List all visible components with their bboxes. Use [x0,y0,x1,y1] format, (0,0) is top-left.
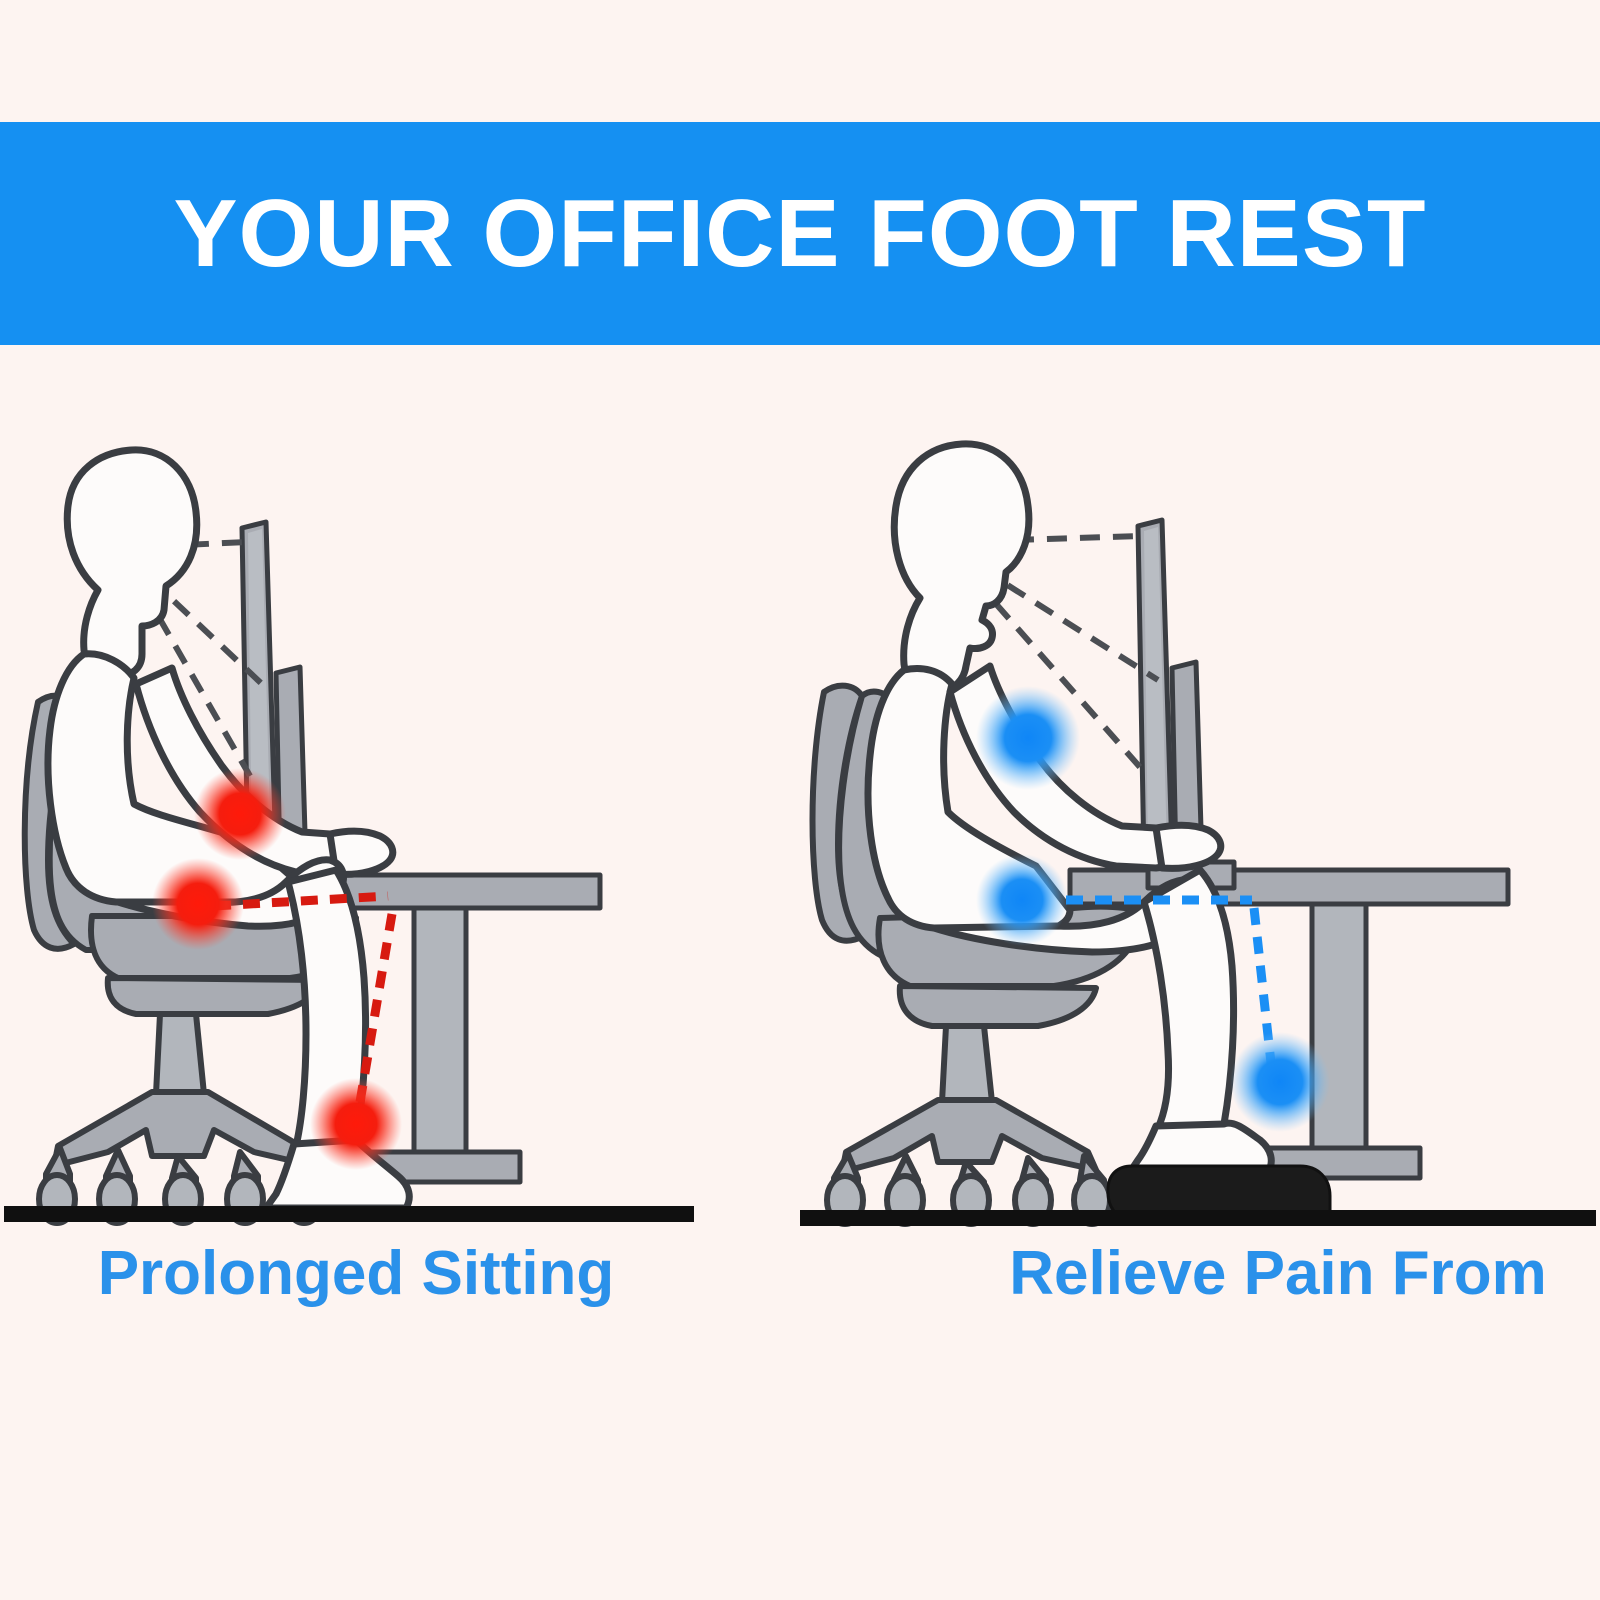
caption-prolonged-sitting: Prolonged Sitting [0,1240,756,1308]
lumbar-relief-point [976,854,1068,946]
upper-back-pain-point [194,768,286,860]
poster-root: YOUR OFFICE FOOT REST [0,0,1600,1600]
neck-relief-point [976,686,1080,790]
ankle-relief-point [1230,1032,1330,1132]
seated-person [868,444,1271,1172]
lower-back-pain-point [152,858,244,950]
header-banner: YOUR OFFICE FOOT REST [0,122,1600,345]
panel-prolonged-sitting: Prolonged Sitting [0,430,800,1390]
floor-line [800,1210,1596,1226]
caption-relieve-pain-from: Relieve Pain From [878,1240,1600,1308]
panel-relieve-pain-from: Relieve Pain From [800,430,1600,1390]
floor-line [4,1206,694,1222]
page-title: YOUR OFFICE FOOT REST [173,186,1426,282]
ankle-pain-point [310,1078,402,1170]
illustration-prolonged-sitting [0,430,800,1230]
illustration-relieve-pain-from [800,430,1600,1230]
comparison-panels: Prolonged Sitting [0,430,1600,1390]
